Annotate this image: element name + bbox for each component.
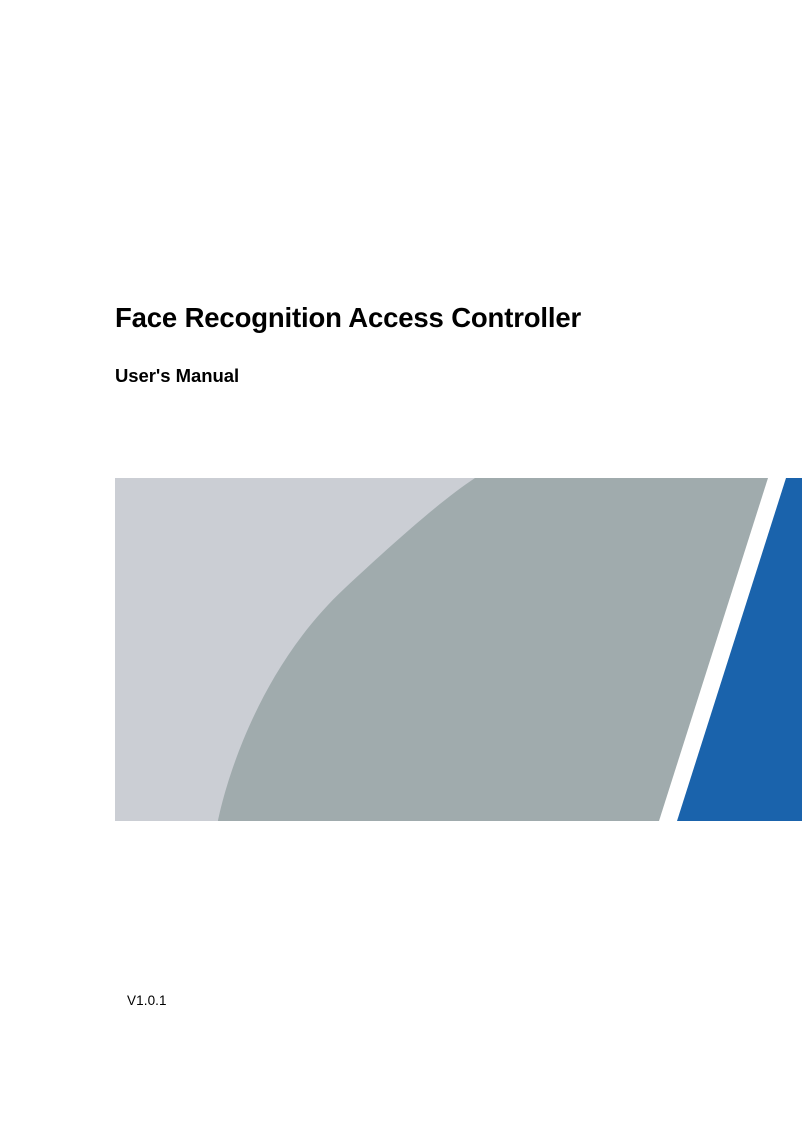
page-title: Face Recognition Access Controller: [115, 302, 735, 334]
title-block: Face Recognition Access Controller User'…: [115, 302, 735, 388]
page-subtitle: User's Manual: [115, 334, 735, 387]
banner-svg: [115, 478, 802, 821]
version-label: V1.0.1: [127, 993, 167, 1008]
cover-page: Face Recognition Access Controller User'…: [0, 0, 802, 1134]
cover-banner-graphic: [115, 478, 802, 821]
